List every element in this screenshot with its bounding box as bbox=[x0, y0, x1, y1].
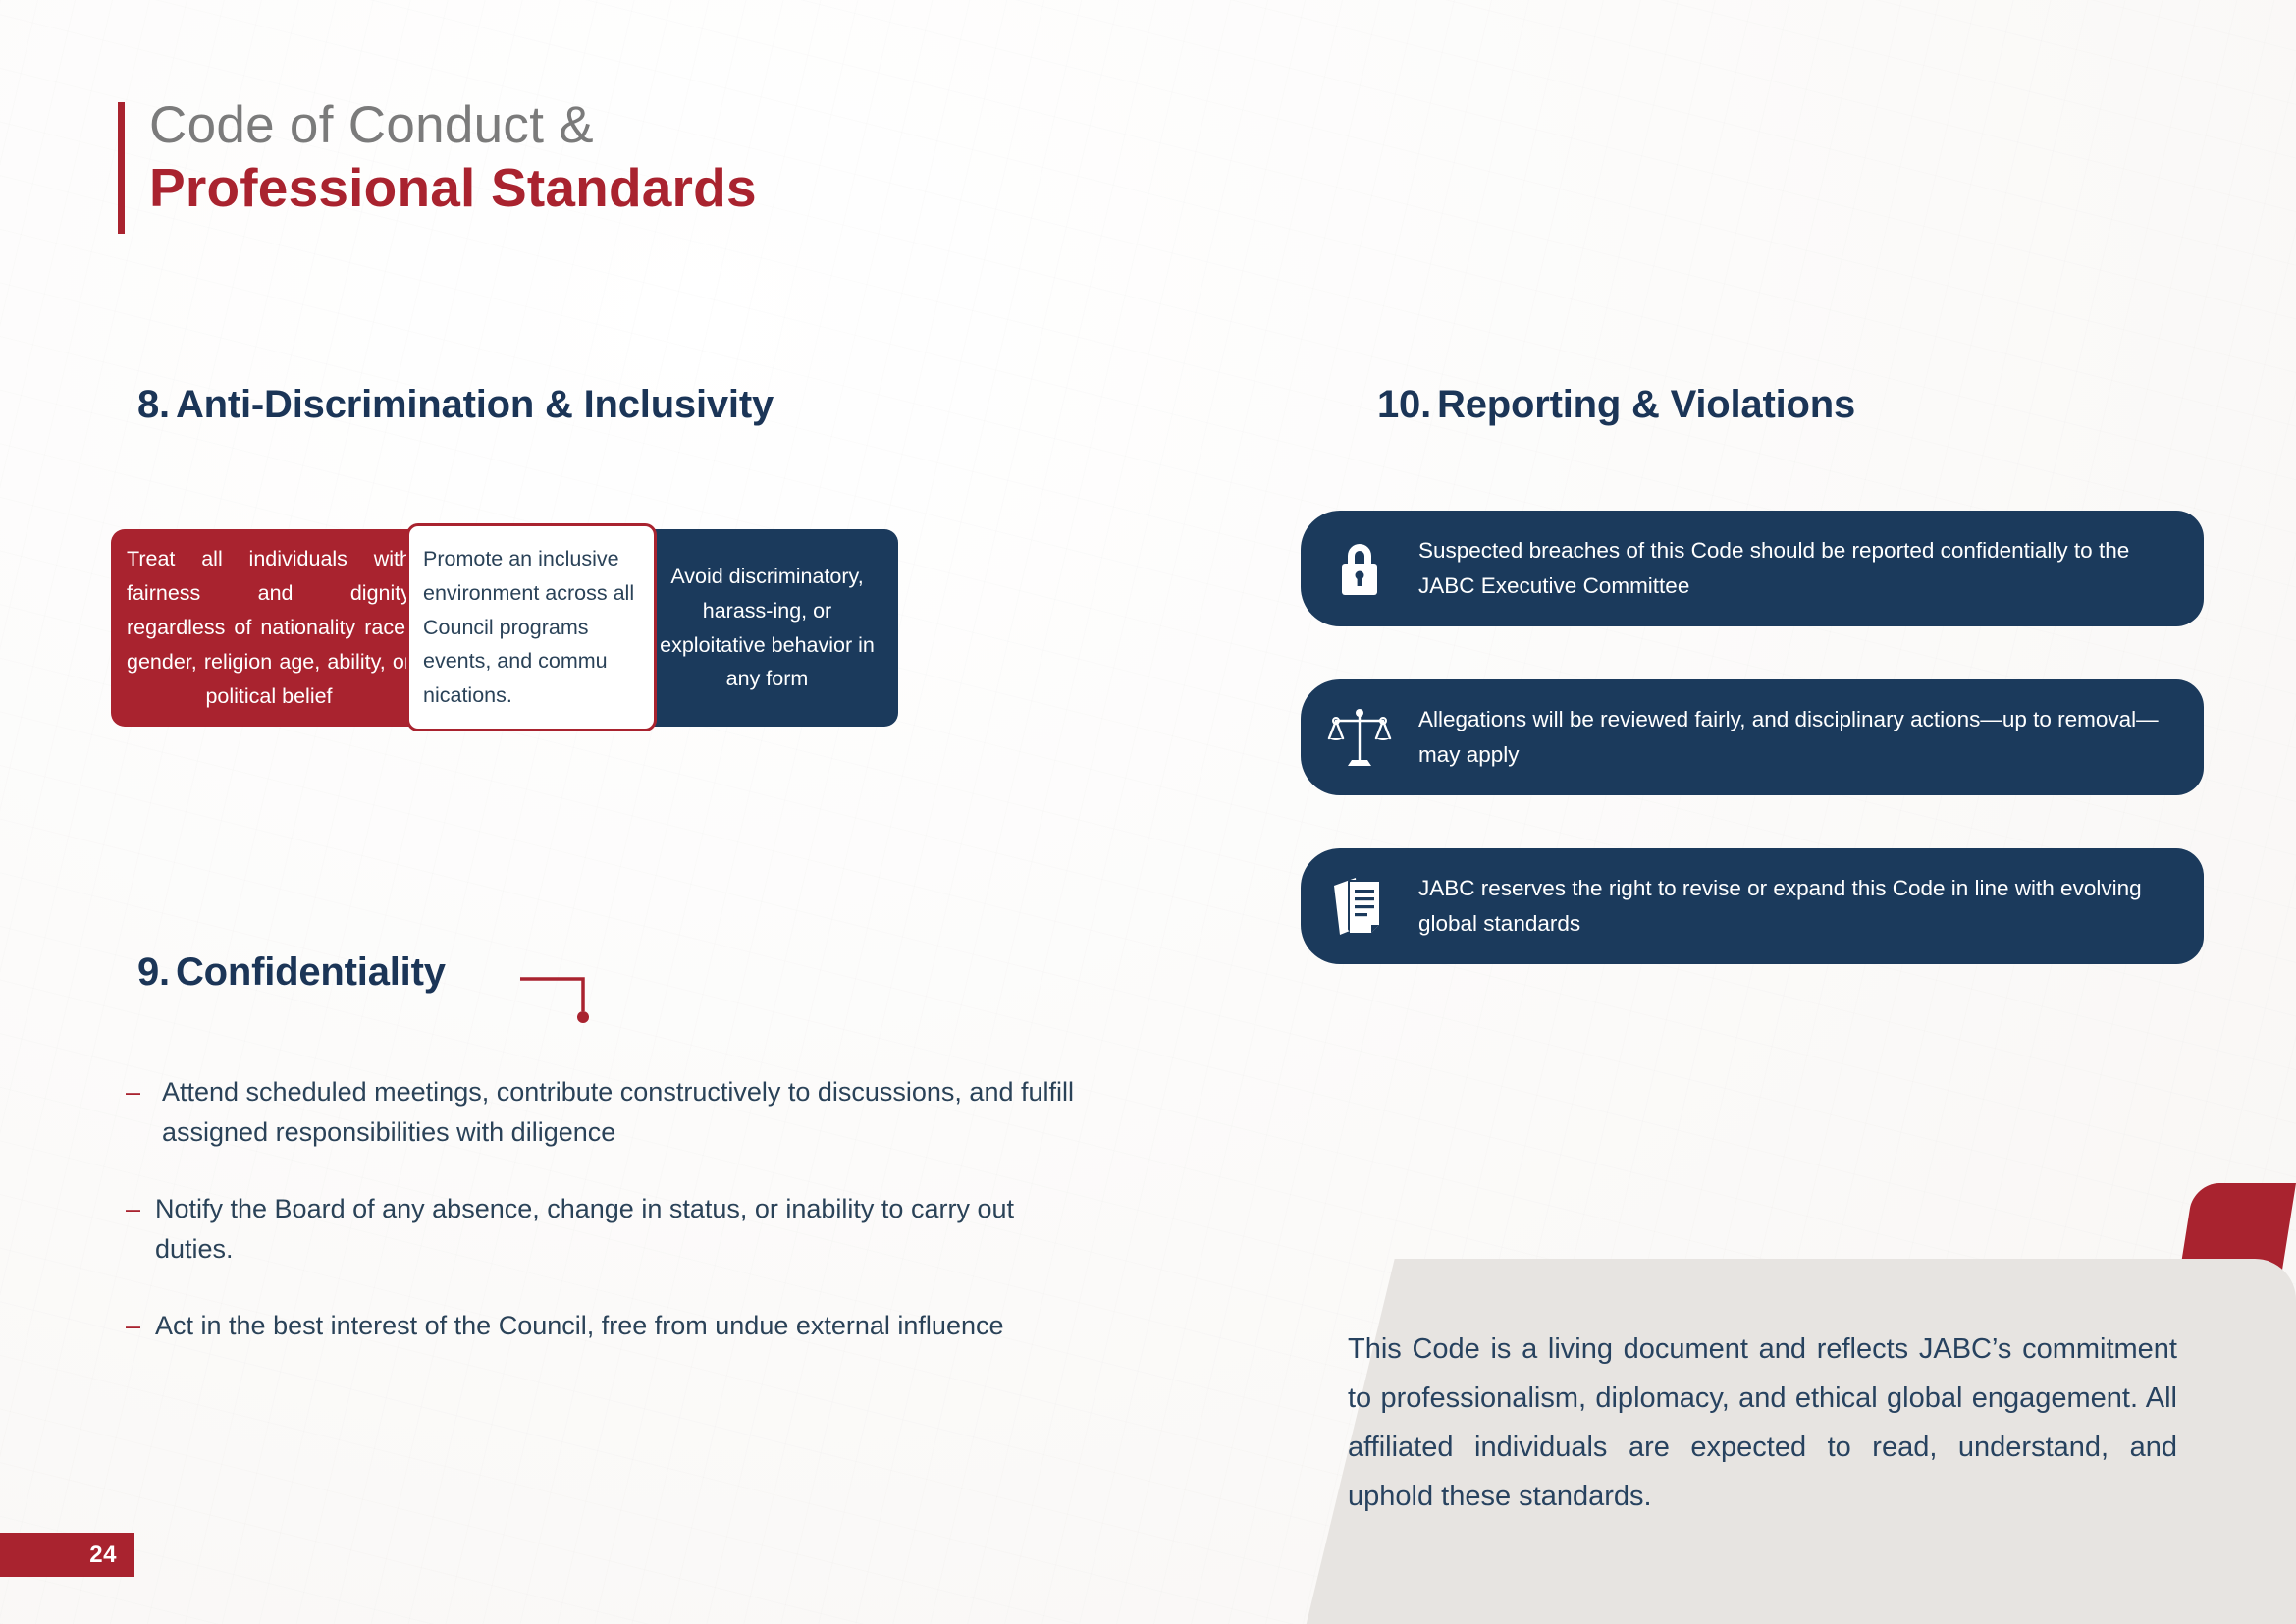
closing-statement-text: This Code is a living document and refle… bbox=[1348, 1326, 2177, 1522]
list-item-text: Act in the best interest of the Council,… bbox=[155, 1306, 1004, 1346]
bullet-dash: – bbox=[126, 1189, 155, 1270]
section-8-number: 8. bbox=[137, 383, 170, 426]
section-8-title: Anti-Discrimination & Inclusivity bbox=[176, 383, 774, 426]
list-item-text: Attend scheduled meetings, contribute co… bbox=[155, 1072, 1088, 1153]
list-item: – Attend scheduled meetings, contribute … bbox=[126, 1072, 1088, 1153]
section-9-heading: 9.Confidentiality bbox=[137, 950, 446, 995]
reporting-item-text: Allegations will be reviewed fairly, and… bbox=[1418, 702, 2204, 772]
anti-discrimination-card-group: Treat all individuals with fairness and … bbox=[111, 523, 1043, 737]
bullet-dash: – bbox=[126, 1072, 155, 1153]
section-9-title: Confidentiality bbox=[176, 950, 446, 994]
section-8-heading: 8.Anti-Discrimination & Inclusivity bbox=[137, 383, 774, 427]
reporting-item-text: Suspected breaches of this Code should b… bbox=[1418, 533, 2204, 603]
reporting-item-allegations-review: Allegations will be reviewed fairly, and… bbox=[1301, 679, 2204, 795]
section-10-heading: 10.Reporting & Violations bbox=[1377, 383, 1855, 427]
section-10-title: Reporting & Violations bbox=[1437, 383, 1855, 426]
page-number: 24 bbox=[89, 1542, 117, 1569]
card-text: Promote an inclusive environment across … bbox=[409, 542, 654, 713]
page-header: Code of Conduct & Professional Standards bbox=[118, 96, 757, 219]
page-title-line2: Professional Standards bbox=[149, 158, 757, 219]
reporting-item-text: JABC reserves the right to revise or exp… bbox=[1418, 871, 2204, 941]
document-page: Code of Conduct & Professional Standards… bbox=[0, 0, 2296, 1624]
lock-icon bbox=[1301, 538, 1418, 599]
header-accent-rule bbox=[118, 102, 125, 234]
confidentiality-elbow-decoration bbox=[520, 974, 591, 1025]
section-9-number: 9. bbox=[137, 950, 170, 994]
card-avoid-discriminatory-behavior: Avoid discriminatory, harass-ing, or exp… bbox=[636, 529, 898, 727]
card-text: Avoid discriminatory, harass-ing, or exp… bbox=[636, 560, 898, 696]
page-number-badge: 24 bbox=[0, 1533, 134, 1577]
section-10-number: 10. bbox=[1377, 383, 1431, 426]
bullet-dash: – bbox=[126, 1306, 155, 1346]
scales-of-justice-icon bbox=[1301, 705, 1418, 770]
documents-icon bbox=[1301, 874, 1418, 939]
page-title-line1: Code of Conduct & bbox=[149, 96, 757, 154]
reporting-item-revision-rights: JABC reserves the right to revise or exp… bbox=[1301, 848, 2204, 964]
card-promote-inclusive-environment: Promote an inclusive environment across … bbox=[406, 523, 657, 731]
card-treat-all-individuals: Treat all individuals with fairness and … bbox=[111, 529, 427, 727]
card-text: Treat all individuals with fairness and … bbox=[111, 542, 427, 713]
reporting-item-confidential-breach: Suspected breaches of this Code should b… bbox=[1301, 511, 2204, 626]
confidentiality-list: – Attend scheduled meetings, contribute … bbox=[126, 1072, 1088, 1382]
list-item-text: Notify the Board of any absence, change … bbox=[155, 1189, 1088, 1270]
reporting-violations-list: Suspected breaches of this Code should b… bbox=[1301, 511, 2204, 1017]
list-item: – Act in the best interest of the Counci… bbox=[126, 1306, 1088, 1346]
list-item: – Notify the Board of any absence, chang… bbox=[126, 1189, 1088, 1270]
